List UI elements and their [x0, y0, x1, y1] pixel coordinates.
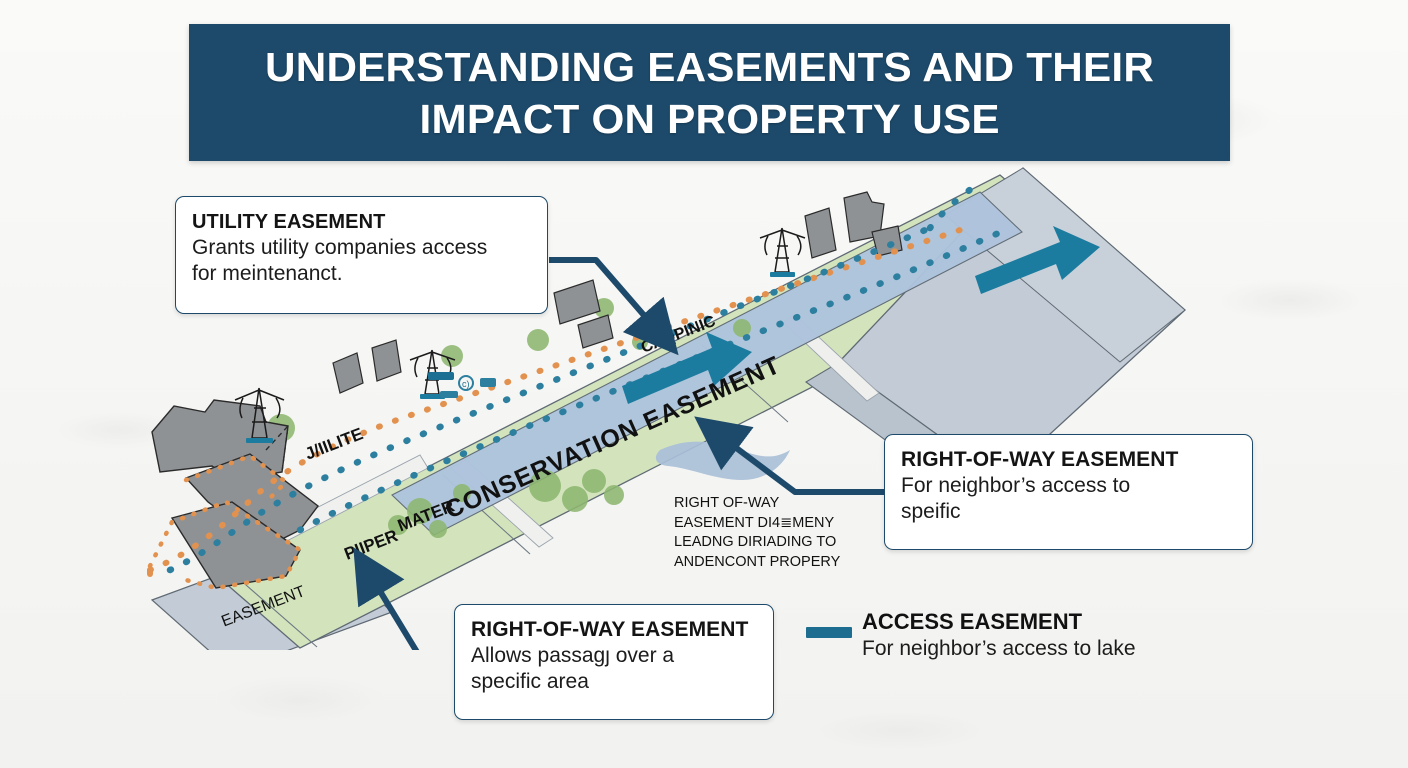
building-small-1: [333, 353, 363, 393]
title-line-1: UNDERSTANDING EASEMENTS AND THEIR: [265, 41, 1154, 93]
title-line-2: IMPACT ON PROPERTY USE: [419, 93, 999, 145]
power-tower-icon-3: [760, 228, 805, 277]
callout-right-of-way-easement[interactable]: RIGHT-OF-WAY EASEMENT For neighbor’s acc…: [884, 434, 1253, 550]
legend-title: ACCESS EASEMENT: [862, 608, 1136, 635]
building-small-2: [372, 340, 401, 381]
annotation-line-2: EASEMENT DI4≣MENY: [674, 514, 854, 534]
annotation-line-4: ANDENCONT PROPERY: [674, 553, 854, 573]
annotation-line-1: RIGHT OF-WAY: [674, 494, 854, 514]
title-banner: UNDERSTANDING EASEMENTS AND THEIR IMPACT…: [189, 24, 1230, 161]
callout-body-line-2: speific: [901, 499, 1236, 525]
callout-title: RIGHT-OF-WAY EASEMENT: [471, 617, 757, 643]
building-group-right: [805, 192, 902, 258]
legend-text-block: ACCESS EASEMENT For neighbor’s access to…: [862, 608, 1136, 662]
callout-body-line-1: Grants utility companies access: [192, 235, 531, 261]
callout-body-line-1: Allows passagȷ over a: [471, 643, 757, 669]
callout-utility-easement[interactable]: UTILITY EASEMENT Grants utility companie…: [175, 196, 548, 314]
building-label-utilite: J/IILITE: [302, 424, 365, 463]
map-annotation-right-of-way: RIGHT OF-WAY EASEMENT DI4≣MENY LEADNG DI…: [674, 494, 854, 572]
building-small-3: [554, 280, 600, 324]
callout-passage-easement[interactable]: RIGHT-OF-WAY EASEMENT Allows passagȷ ove…: [454, 604, 774, 720]
legend-subtitle: For neighbor’s access to lake: [862, 635, 1136, 662]
callout-title: RIGHT-OF-WAY EASEMENT: [901, 447, 1236, 473]
callout-body-line-2: for meintenanct.: [192, 261, 531, 287]
building-n-1: [805, 208, 836, 258]
annotation-line-3: LEADNG DIRIADING TO: [674, 533, 854, 553]
callout-body-line-1: For neighbor’s access to: [901, 473, 1236, 499]
svg-text:c): c): [462, 379, 470, 389]
callout-title: UTILITY EASEMENT: [192, 209, 531, 235]
line-swatch-icon: [806, 627, 852, 638]
building-small-4: [578, 315, 613, 348]
callout-body-line-2: specific area: [471, 669, 757, 695]
legend-access-easement: ACCESS EASEMENT For neighbor’s access to…: [806, 608, 1186, 670]
